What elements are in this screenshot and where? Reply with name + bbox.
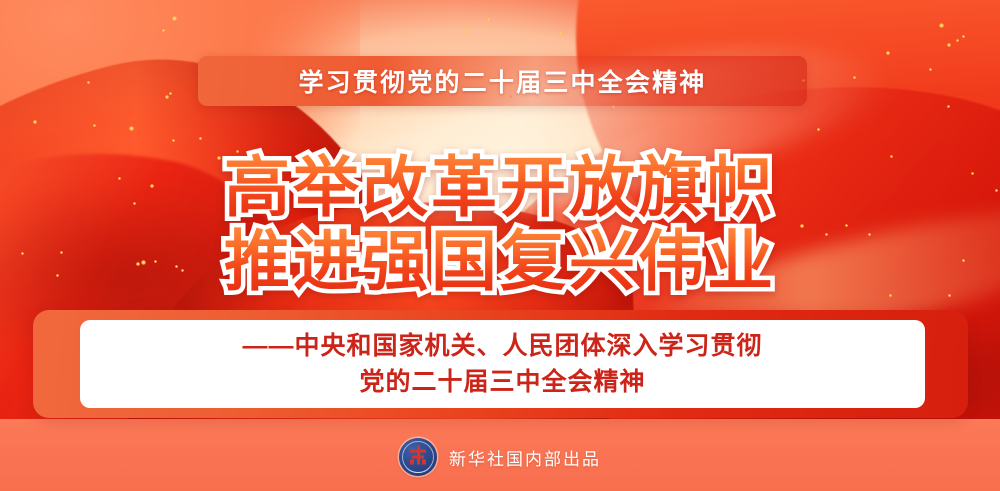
subtitle-line-1: ——中央和国家机关、人民团体深入学习贯彻 bbox=[242, 328, 762, 364]
main-title-line-2-fill: 推进强国复兴伟业 bbox=[224, 224, 776, 298]
top-banner: 学习贯彻党的二十届三中全会精神 bbox=[198, 56, 807, 106]
main-title-line-2: 推进强国复兴伟业 推进强国复兴伟业 bbox=[224, 224, 776, 298]
footer-text: 新华社国内部出品 bbox=[449, 445, 601, 470]
logo-arc bbox=[405, 463, 432, 473]
subtitle-line-2: 党的二十届三中全会精神 bbox=[359, 364, 645, 400]
footer: 新华社国内部出品 bbox=[0, 431, 1000, 483]
top-banner-text: 学习贯彻党的二十届三中全会精神 bbox=[298, 63, 706, 99]
subtitle-panel: ——中央和国家机关、人民团体深入学习贯彻 党的二十届三中全会精神 bbox=[80, 320, 925, 408]
xinhua-news-agency-logo-icon bbox=[399, 438, 437, 476]
main-title: 高举改革开放旗帜 高举改革开放旗帜 推进强国复兴伟业 推进强国复兴伟业 bbox=[0, 150, 1000, 298]
poster-root: 学习贯彻党的二十届三中全会精神 高举改革开放旗帜 高举改革开放旗帜 推进强国复兴… bbox=[0, 0, 1000, 491]
main-title-line-1-fill: 高举改革开放旗帜 bbox=[224, 150, 776, 224]
main-title-line-1: 高举改革开放旗帜 高举改革开放旗帜 bbox=[224, 150, 776, 224]
